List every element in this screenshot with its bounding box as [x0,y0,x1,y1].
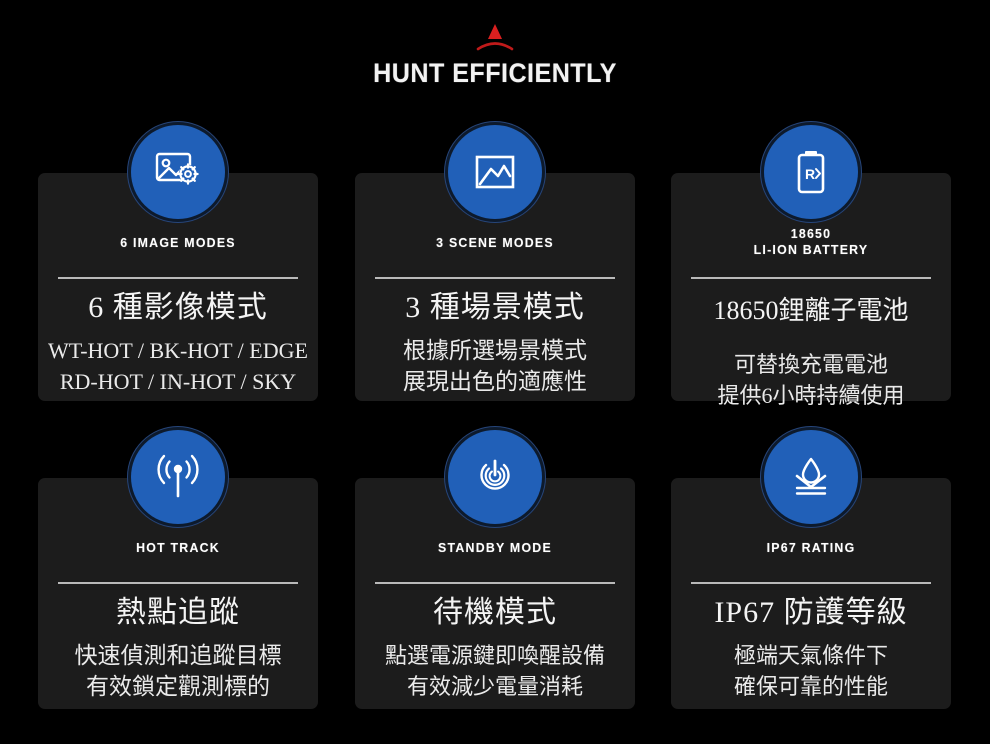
image-settings-icon [131,125,225,219]
card-body: 可替換充電電池 提供6小時持續使用 [671,349,951,411]
card-eyebrow: 6 IMAGE MODES [45,235,311,251]
rechargeable-battery-icon: R [764,125,858,219]
card-body-line: 點選電源鍵即喚醒設備 [355,640,635,671]
feature-card-standby: STANDBY MODE 待機模式 點選電源鍵即喚醒設備 有效減少電量消耗 [355,430,635,726]
card-body-line: 提供6小時持續使用 [671,380,951,411]
card-headline: 3 種場景模式 [355,288,635,328]
card-body-line: 有效減少電量消耗 [355,671,635,702]
card-body-line: 根據所選場景模式 [355,335,635,366]
card-divider [375,277,615,279]
card-body-line: 確保可靠的性能 [671,671,951,702]
card-body: 極端天氣條件下 確保可靠的性能 [671,640,951,702]
feature-card-grid: 6 IMAGE MODES 6 種影像模式 WT-HOT / BK-HOT / … [0,112,990,744]
card-eyebrow: STANDBY MODE [362,540,628,556]
card-headline: IP67 防護等級 [671,593,951,633]
card-eyebrow-line: LI-ION BATTERY [678,242,944,258]
card-divider [691,582,931,584]
card-body-line: 展現出色的適應性 [355,366,635,397]
signal-broadcast-icon [131,430,225,524]
card-eyebrow: IP67 RATING [678,540,944,556]
water-droplet-shield-icon [764,430,858,524]
card-divider [58,582,298,584]
card-eyebrow: 3 SCENE MODES [362,235,628,251]
card-body-line: WT-HOT / BK-HOT / EDGE [38,335,318,366]
feature-card-battery: 18650 LI-ION BATTERY 18650鋰離子電池 可替換充電電池 … [671,125,951,421]
card-eyebrow-line: 18650 [678,226,944,242]
feature-card-ip67: IP67 RATING IP67 防護等級 極端天氣條件下 確保可靠的性能 [671,430,951,726]
card-eyebrow: HOT TRACK [45,540,311,556]
card-body-line: 有效鎖定觀測標的 [38,671,318,702]
page-header: HUNT EFFICIENTLY [0,0,990,112]
card-headline: 18650鋰離子電池 [671,291,951,331]
card-body: WT-HOT / BK-HOT / EDGE RD-HOT / IN-HOT /… [38,335,318,397]
image-landscape-icon [448,125,542,219]
triangle-arc-logo-icon [472,22,518,52]
card-body: 點選電源鍵即喚醒設備 有效減少電量消耗 [355,640,635,702]
svg-text:R: R [805,166,815,182]
card-headline: 熱點追蹤 [38,593,318,633]
feature-card-scene-modes: 3 SCENE MODES 3 種場景模式 根據所選場景模式 展現出色的適應性 [355,125,635,421]
card-body-line: RD-HOT / IN-HOT / SKY [38,366,318,397]
card-divider [375,582,615,584]
card-headline: 待機模式 [355,593,635,633]
feature-card-image-modes: 6 IMAGE MODES 6 種影像模式 WT-HOT / BK-HOT / … [38,125,318,421]
page-title: HUNT EFFICIENTLY [35,58,956,89]
card-headline: 6 種影像模式 [38,288,318,328]
card-body: 根據所選場景模式 展現出色的適應性 [355,335,635,397]
feature-card-hot-track: HOT TRACK 熱點追蹤 快速偵測和追蹤目標 有效鎖定觀測標的 [38,430,318,726]
power-button-icon [448,430,542,524]
card-divider [58,277,298,279]
card-body-line: 快速偵測和追蹤目標 [38,640,318,671]
card-body-line: 可替換充電電池 [671,349,951,380]
card-body: 快速偵測和追蹤目標 有效鎖定觀測標的 [38,640,318,702]
card-divider [691,277,931,279]
card-body-line: 極端天氣條件下 [671,640,951,671]
card-eyebrow: 18650 LI-ION BATTERY [678,226,944,258]
